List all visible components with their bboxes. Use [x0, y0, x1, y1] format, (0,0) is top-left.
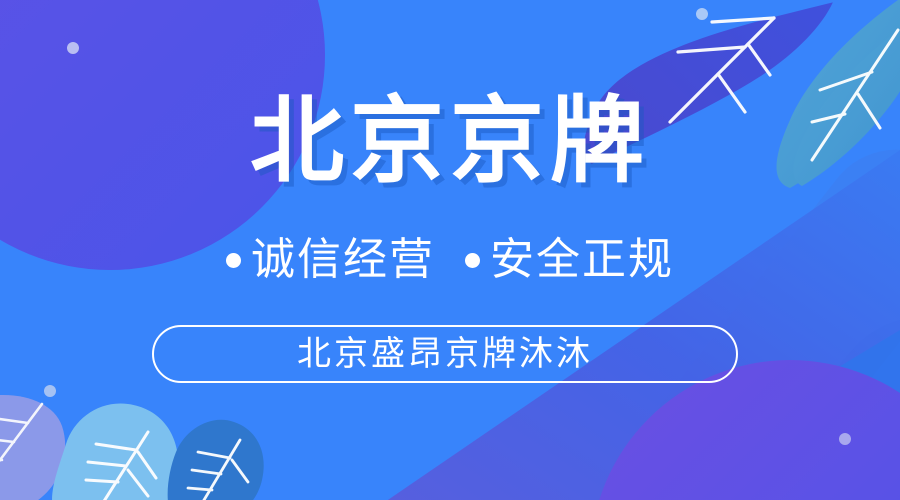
- subtitle-label-2: 安全正规: [490, 238, 674, 282]
- subtitle-item-1: 诚信经营: [226, 238, 435, 282]
- brand-pill-label: 北京盛昂京牌沐沐: [297, 337, 593, 371]
- page-title: 北京京牌: [0, 95, 900, 189]
- subtitle-label-1: 诚信经营: [251, 238, 435, 282]
- subtitle-item-2: 安全正规: [465, 238, 674, 282]
- banner-content: 北京京牌 诚信经营 安全正规 北京盛昂京牌沐沐: [0, 0, 900, 500]
- subtitle-row: 诚信经营 安全正规: [0, 238, 900, 282]
- brand-pill-button[interactable]: 北京盛昂京牌沐沐: [152, 325, 738, 383]
- bullet-dot-icon: [465, 253, 480, 268]
- promo-banner: 北京京牌 诚信经营 安全正规 北京盛昂京牌沐沐: [0, 0, 900, 500]
- bullet-dot-icon: [226, 253, 241, 268]
